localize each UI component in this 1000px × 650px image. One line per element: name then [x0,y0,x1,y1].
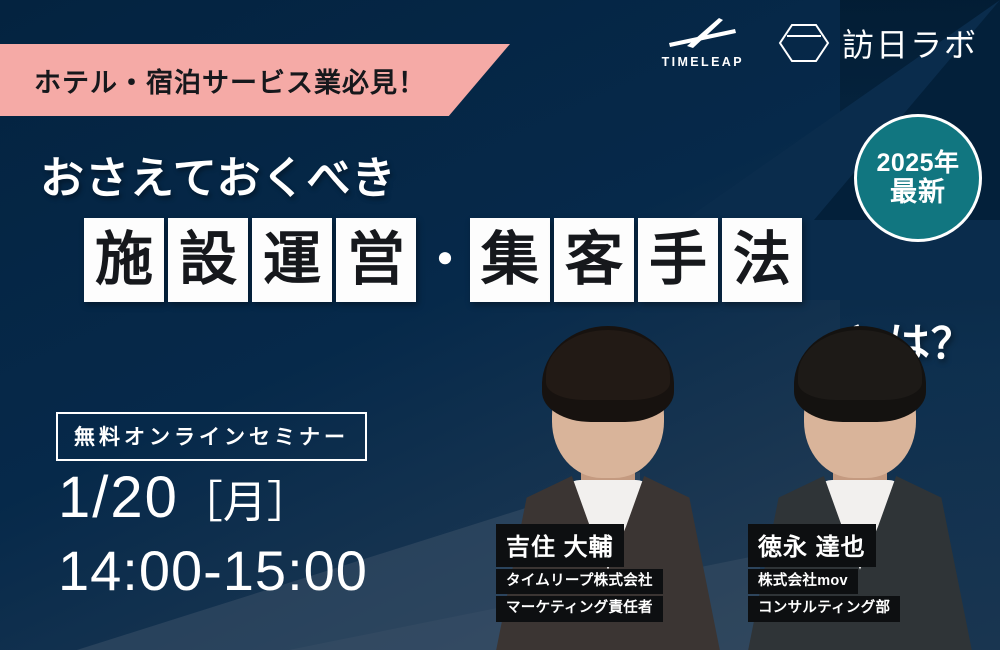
webinar-banner: ホテル・宿泊サービス業必見！ TIMELEAP 訪日ラボ おさえておくべき 施 … [0,0,1000,650]
headline-tile: 客 [554,218,634,302]
logo-group: TIMELEAP 訪日ラボ [662,16,978,69]
year-badge-year: 2025年 [876,149,959,177]
houlab-wordmark: 訪日ラボ [842,20,978,66]
speaker-company: タイムリープ株式会社 [496,569,663,595]
headline-tile: 施 [84,218,164,302]
speaker-name: 徳永 達也 [748,524,876,567]
headline-tile: 運 [252,218,332,302]
year-badge: 2025年 最新 [854,114,982,242]
seminar-day-of-week: ［月］ [179,478,311,527]
speaker-name: 吉住 大輔 [496,524,624,567]
seminar-time: 14:00-15:00 [58,538,368,603]
headline-tile: 手 [638,218,718,302]
headline-separator: ・ [420,235,466,285]
crossed-lines-icon [665,16,741,50]
headline-tile-row: 施 設 運 営 ・ 集 客 手 法 [84,218,802,302]
speaker-nameplate: 徳永 達也 株式会社mov コンサルティング部 [748,524,900,622]
audience-ribbon-text: ホテル・宿泊サービス業必見！ [34,61,426,100]
speaker-role: コンサルティング部 [748,596,900,622]
speaker-card: 吉住 大輔 タイムリープ株式会社 マーケティング責任者 [488,320,728,650]
headline-tile: 法 [722,218,802,302]
seminar-type-tag: 無料オンラインセミナー [56,412,367,461]
seminar-date-value: 1/20 [58,465,179,530]
speaker-company: 株式会社mov [748,569,858,595]
headline-tile: 営 [336,218,416,302]
speaker-nameplate: 吉住 大輔 タイムリープ株式会社 マーケティング責任者 [496,524,663,622]
hexagon-icon [778,19,830,67]
timeleap-logo[interactable]: TIMELEAP [662,16,744,69]
speaker-card: 徳永 達也 株式会社mov コンサルティング部 [740,320,980,650]
year-badge-label: 最新 [890,177,946,207]
headline-line1: おさえておくべき [40,142,396,206]
audience-ribbon: ホテル・宿泊サービス業必見！ [0,44,510,116]
speaker-role: マーケティング責任者 [496,596,663,622]
timeleap-wordmark: TIMELEAP [662,55,744,69]
headline-tile: 集 [470,218,550,302]
headline-tile: 設 [168,218,248,302]
seminar-date: 1/20［月］ [58,464,311,531]
houlab-logo[interactable]: 訪日ラボ [778,19,978,67]
